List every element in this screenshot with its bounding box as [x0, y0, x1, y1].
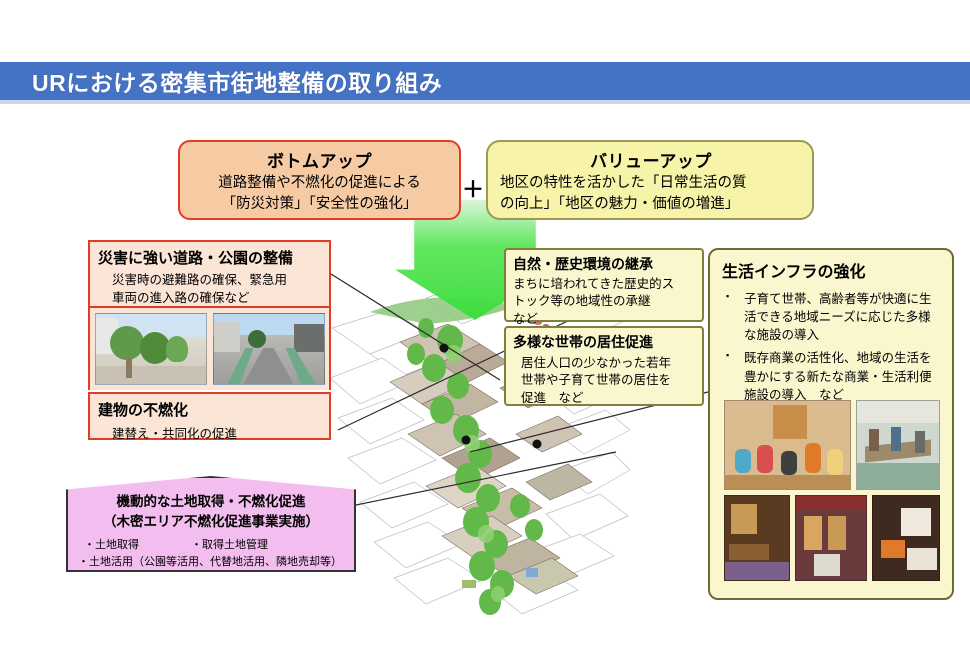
pocket-park-photo [95, 313, 207, 385]
plus-sign: ＋ [462, 172, 484, 204]
life-infrastructure-photo-grid [724, 400, 940, 586]
value-up-callout: バリューアップ 地区の特性を活かした「日常生活の質 の向上」「地区の魅力・価値の… [486, 140, 814, 220]
household-line-3: 促進 など [521, 390, 695, 407]
photo-row-top [724, 400, 940, 490]
list-item: 既存商業の活性化、地域の生活を豊かにする新たな商業・生活利便施設の導入 など [722, 349, 942, 403]
land-bullet-1: ・土地取得 [84, 537, 139, 554]
nature-history-heading: 自然・歴史環境の継承 [513, 254, 695, 274]
bottom-up-heading: ボトムアップ [180, 147, 459, 172]
road-park-photo-strip [88, 308, 331, 390]
household-line-2: 世帯や子育て世帯の居住を [521, 372, 695, 389]
photo-row-bottom [724, 495, 940, 581]
value-up-line-2: の向上」「地区の魅力・価値の増進」 [500, 194, 802, 215]
nature-history-callout: 自然・歴史環境の継承 まちに培われてきた歴史的ス トック等の地域性の承継 など [504, 248, 704, 322]
land-heading-1: 機動的な土地取得・不燃化促進 [78, 492, 344, 512]
list-item: 子育て世帯、高齢者等が快適に生活できる地域ニーズに応じた多様な施設の導入 [722, 290, 942, 344]
land-acquisition-callout: 機動的な土地取得・不燃化促進 （木密エリア不燃化促進事業実施） ・土地取得 ・取… [66, 476, 356, 572]
cafe-interior-photo [724, 495, 790, 581]
nursery-children-photo [724, 400, 851, 490]
nature-history-line-2: トック等の地域性の承継 [513, 293, 695, 310]
green-street-photo [213, 313, 325, 385]
road-park-heading: 災害に強い道路・公園の整備 [98, 247, 321, 268]
title-underline [0, 100, 970, 104]
land-bullet-3: ・土地活用（公園等活用、代替地活用、隣地売却等） [78, 554, 344, 571]
shop-facade-photo [795, 495, 867, 581]
life-infrastructure-panel: 生活インフラの強化 子育て世帯、高齢者等が快適に生活できる地域ニーズに応じた多様… [708, 248, 954, 600]
community-hall-photo [856, 400, 940, 490]
nature-history-line-1: まちに培われてきた歴史的ス [513, 276, 695, 293]
bottom-up-callout: ボトムアップ 道路整備や不燃化の促進による 「防災対策」「安全性の強化」 [178, 140, 461, 220]
fireproofing-line-1: 建替え・共同化の促進 [98, 423, 321, 442]
land-heading-2: （木密エリア不燃化促進事業実施） [78, 512, 344, 532]
value-up-line-1: 地区の特性を活かした「日常生活の質 [500, 173, 802, 194]
road-park-callout: 災害に強い道路・公園の整備 災害時の避難路の確保、緊急用 車両の進入路の確保など [88, 240, 331, 308]
slide-canvas: URにおける密集市街地整備の取り組み [0, 0, 970, 647]
fireproofing-callout: 建物の不燃化 建替え・共同化の促進 [88, 392, 331, 440]
value-up-heading: バリューアップ [500, 147, 802, 172]
life-infrastructure-heading: 生活インフラの強化 [722, 258, 942, 282]
bottom-up-line-2: 「防災対策」「安全性の強化」 [180, 194, 459, 215]
land-bullet-2: ・取得土地管理 [191, 537, 268, 554]
fireproofing-heading: 建物の不燃化 [98, 399, 321, 420]
slide-title-bar: URにおける密集市街地整備の取り組み [0, 62, 970, 100]
shop-counter-photo [872, 495, 940, 581]
road-park-line-1: 災害時の避難路の確保、緊急用 [112, 271, 321, 289]
bottom-up-line-1: 道路整備や不燃化の促進による [180, 173, 459, 194]
household-line-1: 居住人口の少なかった若年 [521, 355, 695, 372]
household-callout: 多様な世帯の居住促進 居住人口の少なかった若年 世帯や子育て世帯の居住を 促進 … [504, 326, 704, 406]
life-infrastructure-bullet-list: 子育て世帯、高齢者等が快適に生活できる地域ニーズに応じた多様な施設の導入 既存商… [722, 290, 942, 404]
household-heading: 多様な世帯の居住促進 [513, 332, 695, 352]
road-park-line-2: 車両の進入路の確保など [112, 289, 321, 307]
page-title: URにおける密集市街地整備の取り組み [32, 64, 442, 98]
